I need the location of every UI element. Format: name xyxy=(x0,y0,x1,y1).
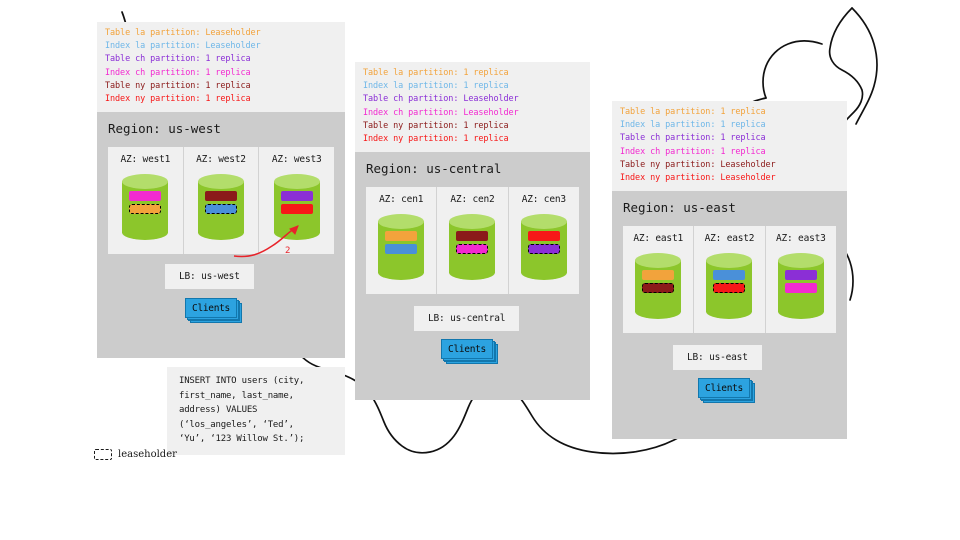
replica-bars xyxy=(198,191,244,214)
replica-bar xyxy=(642,270,674,280)
database-cylinder[interactable] xyxy=(635,253,681,319)
az-label: AZ: east2 xyxy=(694,233,764,244)
partition-line: Table ch partition: 1 replica xyxy=(105,53,337,66)
partition-line: Table ny partition: Leaseholder xyxy=(620,159,839,172)
region-title: Region: us-west xyxy=(97,112,345,136)
az-label: AZ: cen1 xyxy=(366,194,436,205)
database-cylinder[interactable] xyxy=(706,253,752,319)
leaseholder-legend-label: leaseholder xyxy=(118,449,177,460)
partition-line: Table ch partition: Leaseholder xyxy=(363,93,582,106)
load-balancer-us-central[interactable]: LB: us-central xyxy=(414,306,519,331)
az-west1[interactable]: AZ: west1 xyxy=(108,147,184,254)
region-cluster-us-central: Table la partition: 1 replica Index la p… xyxy=(355,62,590,400)
replica-bar xyxy=(129,191,161,201)
partition-line: Table ny partition: 1 replica xyxy=(105,80,337,93)
clients-button[interactable]: Clients xyxy=(441,339,493,359)
region-cluster-us-west: Table la partition: Leaseholder Index la… xyxy=(97,22,345,358)
partition-line: Table la partition: Leaseholder xyxy=(105,27,337,40)
region-title: Region: us-east xyxy=(612,191,847,215)
replica-bars xyxy=(449,231,495,254)
partition-line: Index ny partition: Leaseholder xyxy=(620,172,839,185)
replica-bar xyxy=(785,270,817,280)
replica-bars xyxy=(122,191,168,214)
replica-bar-leaseholder xyxy=(129,204,161,214)
replica-bar xyxy=(785,283,817,293)
partition-line: Table la partition: 1 replica xyxy=(620,106,839,119)
replica-bar xyxy=(456,231,488,241)
clients-stack-us-central[interactable]: Clients xyxy=(441,339,498,361)
az-row-us-east: AZ: east1 AZ: east2 xyxy=(623,226,836,333)
partition-line: Index ch partition: 1 replica xyxy=(620,146,839,159)
database-cylinder[interactable] xyxy=(778,253,824,319)
database-cylinder[interactable] xyxy=(521,214,567,280)
database-cylinder[interactable] xyxy=(122,174,168,240)
replica-bar xyxy=(281,191,313,201)
replica-bar-leaseholder xyxy=(713,283,745,293)
partition-line: Table ny partition: 1 replica xyxy=(363,120,582,133)
az-row-us-central: AZ: cen1 AZ: cen2 xyxy=(366,187,579,294)
replica-bar xyxy=(713,270,745,280)
az-label: AZ: cen3 xyxy=(509,194,579,205)
az-label: AZ: west2 xyxy=(184,154,259,165)
replica-bars xyxy=(378,231,424,254)
partition-line: Index ny partition: 1 replica xyxy=(363,133,582,146)
az-label: AZ: cen2 xyxy=(437,194,507,205)
region-cluster-us-east: Table la partition: 1 replica Index la p… xyxy=(612,101,847,439)
az-cen2[interactable]: AZ: cen2 xyxy=(437,187,508,294)
clients-button[interactable]: Clients xyxy=(698,378,750,398)
sql-statement-note: INSERT INTO users (city, first_name, las… xyxy=(167,367,345,455)
database-cylinder[interactable] xyxy=(449,214,495,280)
partition-line: Index la partition: Leaseholder xyxy=(105,40,337,53)
replica-bar xyxy=(205,191,237,201)
replica-bar-leaseholder xyxy=(456,244,488,254)
replica-bar-leaseholder xyxy=(642,283,674,293)
az-cen1[interactable]: AZ: cen1 xyxy=(366,187,437,294)
az-label: AZ: east3 xyxy=(766,233,836,244)
partition-line: Index ny partition: 1 replica xyxy=(105,93,337,106)
replica-bars xyxy=(635,270,681,293)
az-east2[interactable]: AZ: east2 xyxy=(694,226,765,333)
region-panel-us-central: Region: us-central AZ: cen1 xyxy=(355,152,590,400)
load-balancer-us-west[interactable]: LB: us-west xyxy=(165,264,254,289)
clients-stack-us-east[interactable]: Clients xyxy=(698,378,755,400)
partition-legend-us-east: Table la partition: 1 replica Index la p… xyxy=(612,101,847,191)
replica-bars xyxy=(521,231,567,254)
replica-bars xyxy=(778,270,824,293)
replica-bar-leaseholder xyxy=(528,244,560,254)
replica-bar xyxy=(385,244,417,254)
annotation-arrow xyxy=(230,212,330,264)
clients-button[interactable]: Clients xyxy=(185,298,237,318)
replica-bars xyxy=(274,191,320,214)
dashed-box-icon xyxy=(94,449,112,460)
az-cen3[interactable]: AZ: cen3 xyxy=(509,187,579,294)
partition-line: Index ch partition: 1 replica xyxy=(105,67,337,80)
replica-bar xyxy=(528,231,560,241)
az-label: AZ: west3 xyxy=(259,154,334,165)
leaseholder-legend: leaseholder xyxy=(94,449,177,460)
partition-line: Index la partition: 1 replica xyxy=(620,119,839,132)
partition-line: Index ch partition: Leaseholder xyxy=(363,107,582,120)
partition-legend-us-central: Table la partition: 1 replica Index la p… xyxy=(355,62,590,152)
az-east3[interactable]: AZ: east3 xyxy=(766,226,836,333)
load-balancer-us-east[interactable]: LB: us-east xyxy=(673,345,762,370)
az-label: AZ: east1 xyxy=(623,233,693,244)
diagram-canvas: Table la partition: Leaseholder Index la… xyxy=(0,0,960,540)
partition-line: Table ch partition: 1 replica xyxy=(620,132,839,145)
replica-bar xyxy=(385,231,417,241)
region-panel-us-east: Region: us-east AZ: east1 AZ xyxy=(612,191,847,439)
database-cylinder[interactable] xyxy=(378,214,424,280)
replica-bars xyxy=(706,270,752,293)
az-label: AZ: west1 xyxy=(108,154,183,165)
clients-stack-us-west[interactable]: Clients xyxy=(185,298,242,320)
region-title: Region: us-central xyxy=(355,152,590,176)
partition-legend-us-west: Table la partition: Leaseholder Index la… xyxy=(97,22,345,112)
az-east1[interactable]: AZ: east1 xyxy=(623,226,694,333)
partition-line: Table la partition: 1 replica xyxy=(363,67,582,80)
partition-line: Index la partition: 1 replica xyxy=(363,80,582,93)
